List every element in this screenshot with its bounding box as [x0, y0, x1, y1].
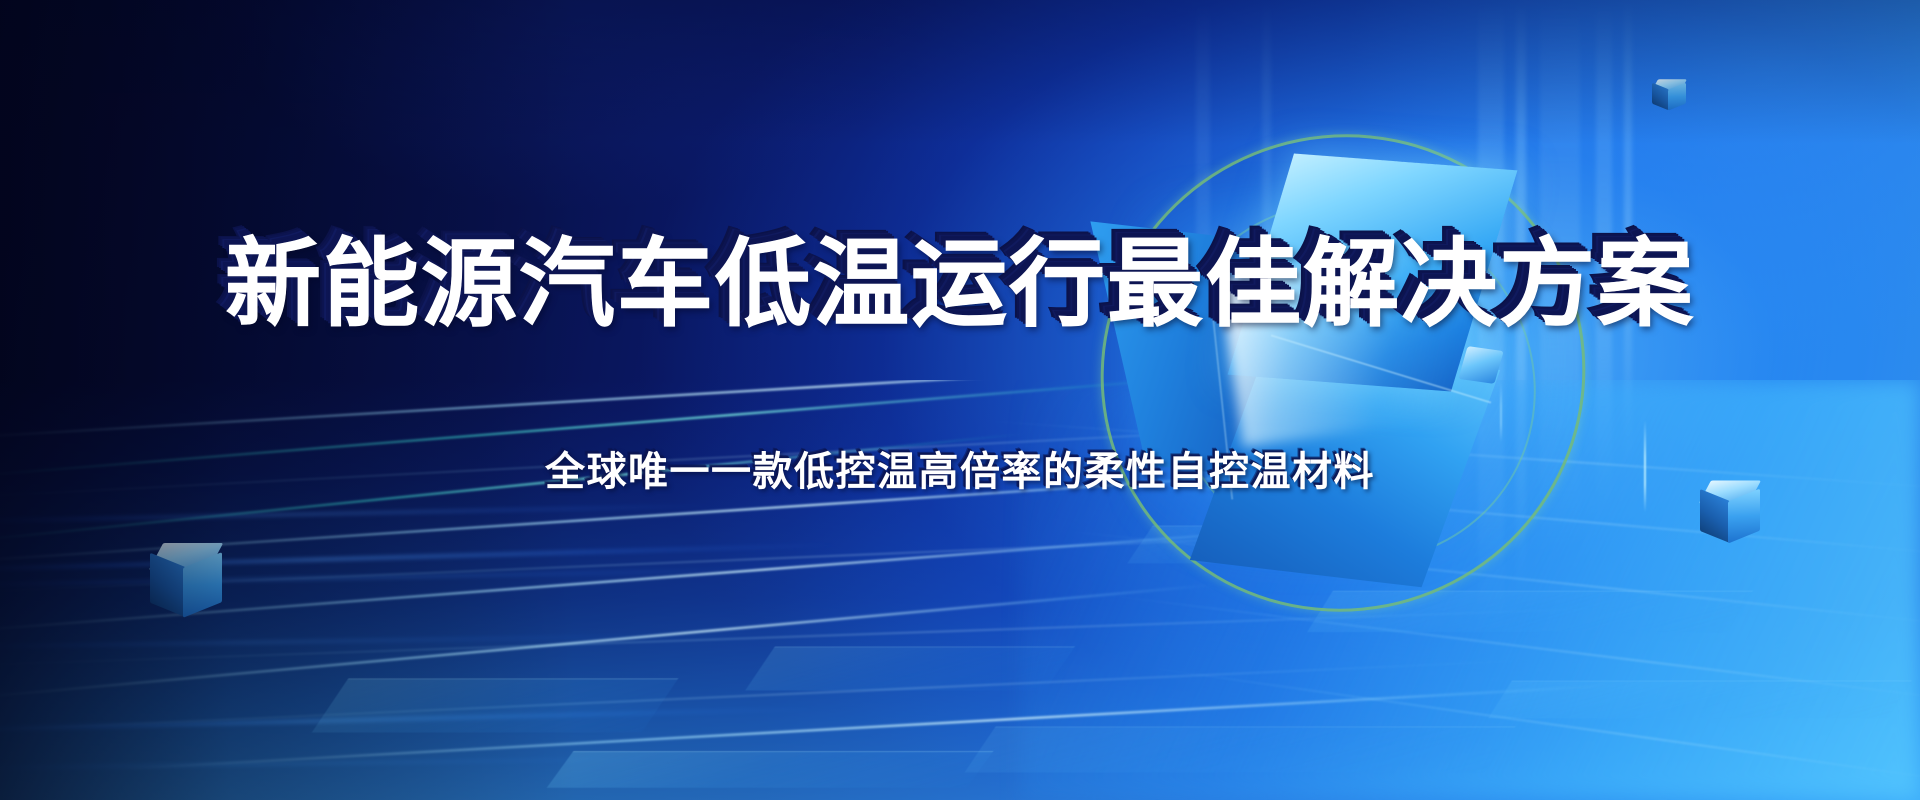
promo-banner: 新能源汽车低温运行最佳解决方案 全球唯一一款低控温高倍率的柔性自控温材料 [0, 0, 1920, 800]
banner-subtitle: 全球唯一一款低控温高倍率的柔性自控温材料 [0, 452, 1920, 492]
banner-title: 新能源汽车低温运行最佳解决方案 [0, 236, 1920, 332]
banner-text-block: 新能源汽车低温运行最佳解决方案 全球唯一一款低控温高倍率的柔性自控温材料 [0, 0, 1920, 800]
